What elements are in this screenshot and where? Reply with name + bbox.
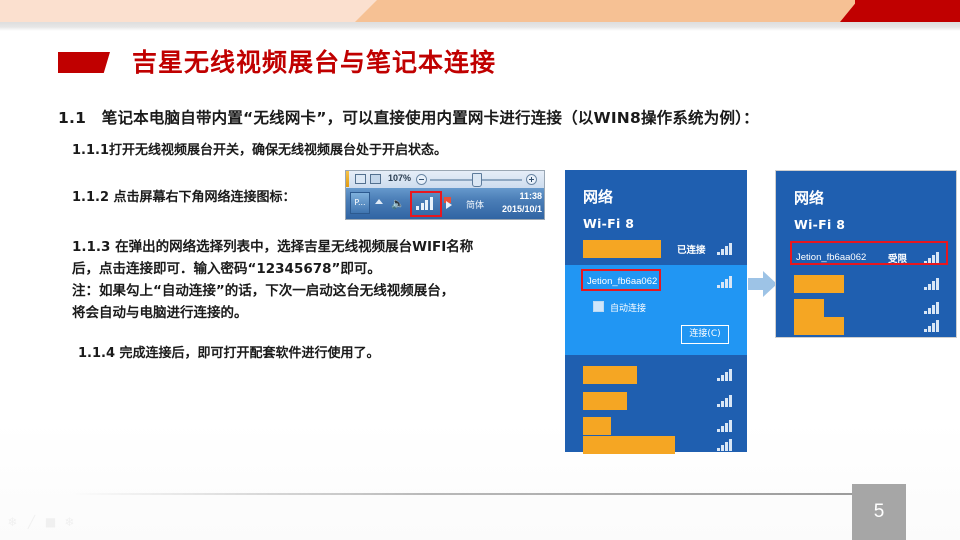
ssid-redacted-bar: [583, 240, 661, 258]
network-panel-subtitle: Wi-Fi 8: [794, 217, 845, 232]
zoom-in-icon: [526, 174, 537, 185]
step-1-1-2-text: 1.1.2 点击屏幕右下角网络连接图标：: [72, 186, 296, 205]
step-1-1-3-line4: 将会自动与电脑进行连接的。: [72, 302, 564, 324]
network-row[interactable]: [565, 388, 747, 414]
wifi-signal-icon: [717, 275, 734, 288]
step-1-1-3-block: 1.1.3 在弹出的网络选择列表中，选择吉星无线视频展台WIFI名称 后，点击连…: [72, 236, 564, 324]
step-1-1-3-line2: 后，点击连接即可．输入密码“12345678”即可。: [72, 258, 564, 280]
clock-time: 11:38: [502, 190, 542, 203]
network-row[interactable]: [776, 271, 956, 297]
ssid-redacted-bar: [583, 366, 637, 384]
network-row-connected[interactable]: 已连接: [565, 236, 747, 262]
system-tray: P... 🔈 简体 11:38 2015/10/1: [346, 188, 545, 220]
network-icon-highlight-box: [410, 191, 442, 217]
banner-segment-light: [0, 0, 380, 22]
title-accent-mark: [58, 52, 110, 73]
zoom-out-icon: [416, 174, 427, 185]
ssid-redacted-bar: [794, 275, 844, 293]
network-row[interactable]: [565, 432, 747, 458]
auto-connect-label: 自动连接: [610, 301, 646, 314]
toolbar-left-accent: [346, 171, 349, 187]
action-center-flag-icon: [444, 197, 454, 209]
page-number-badge: 5: [852, 484, 906, 540]
connection-status-label: 已连接: [677, 242, 706, 256]
step-1-1-4-text: 1.1.4 完成连接后，即可打开配套软件进行使用了。: [78, 342, 380, 361]
view-slideshow-icon: [370, 174, 381, 184]
ssid-redacted-bar: [583, 436, 675, 454]
ime-indicator: 简体: [466, 198, 484, 211]
footer-watermark: ❄ ╱ ■ ❄: [6, 516, 76, 529]
view-normal-icon: [355, 174, 366, 184]
step-1-1-1-text: 1.1.1打开无线视频展台开关，确保无线视频展台处于开启状态。: [72, 139, 447, 158]
zoom-percent-label: 107%: [388, 173, 411, 183]
wifi-signal-icon: [717, 368, 734, 381]
wifi-signal-icon: [717, 242, 734, 255]
network-panel-after: 网络 Wi-Fi 8 Jetion_fb6aa062 受限: [775, 170, 957, 338]
banner-segment-red: [840, 0, 960, 22]
zoom-slider-thumb: [472, 173, 482, 187]
chevron-up-icon: [375, 199, 383, 204]
speaker-icon: 🔈: [391, 197, 405, 210]
clock-date: 2015/10/1: [502, 203, 542, 216]
ssid-redacted-bar: [583, 392, 627, 410]
network-panel-title: 网络: [794, 187, 824, 208]
banner-shadow: [0, 22, 960, 31]
wifi-signal-icon: [924, 319, 941, 332]
network-row[interactable]: [565, 362, 747, 388]
page-title: 吉星无线视频展台与笔记本连接: [58, 50, 496, 75]
step-1-1-3-line3: 注：如果勾上“自动连接”的话，下次一启动这台无线视频展台，: [72, 280, 564, 302]
slide-canvas: 吉星无线视频展台与笔记本连接 1.1 笔记本电脑自带内置“无线网卡”，可以直接使…: [0, 0, 960, 540]
top-banner: [0, 0, 960, 22]
zoom-toolbar: 107%: [346, 171, 545, 189]
auto-connect-checkbox[interactable]: [593, 301, 604, 312]
clock: 11:38 2015/10/1: [502, 190, 542, 216]
taskbar-screenshot-inset: 107% P... 🔈 简体 11:38 2015/10/1: [345, 170, 545, 220]
slash-icon: ╱: [25, 516, 38, 529]
network-panel-before: 网络 Wi-Fi 8 已连接 Jetion_fb6aa062 自动连接 连接(C…: [565, 170, 747, 452]
wifi-signal-icon: [717, 438, 734, 451]
leaf-icon: ❄: [63, 516, 76, 529]
wifi-signal-icon: [924, 277, 941, 290]
highlighted-row-box: [790, 241, 948, 265]
flow-arrow-icon: [748, 271, 778, 297]
selected-ssid-highlight-box: [581, 269, 661, 291]
network-row-selected[interactable]: Jetion_fb6aa062 自动连接 连接(C): [565, 265, 747, 355]
step-1-1-3-line1: 1.1.3 在弹出的网络选择列表中，选择吉星无线视频展台WIFI名称: [72, 236, 564, 258]
wifi-signal-icon: [717, 419, 734, 432]
leaf-icon: ❄: [6, 516, 19, 529]
square-icon: ■: [44, 516, 57, 529]
banner-segment-peach: [355, 0, 855, 22]
network-panel-title: 网络: [583, 186, 613, 207]
step-1-1-text: 1.1 笔记本电脑自带内置“无线网卡”，可以直接使用内置网卡进行连接（以WIN8…: [58, 106, 759, 128]
network-panel-subtitle: Wi-Fi 8: [583, 216, 634, 231]
ssid-redacted-bar: [794, 317, 844, 335]
taskbar-app-button: P...: [350, 192, 370, 214]
network-row[interactable]: [776, 313, 956, 339]
footer-divider: [70, 493, 860, 495]
wifi-signal-icon: [717, 394, 734, 407]
connect-button[interactable]: 连接(C): [681, 325, 729, 344]
title-text: 吉星无线视频展台与笔记本连接: [132, 50, 496, 75]
